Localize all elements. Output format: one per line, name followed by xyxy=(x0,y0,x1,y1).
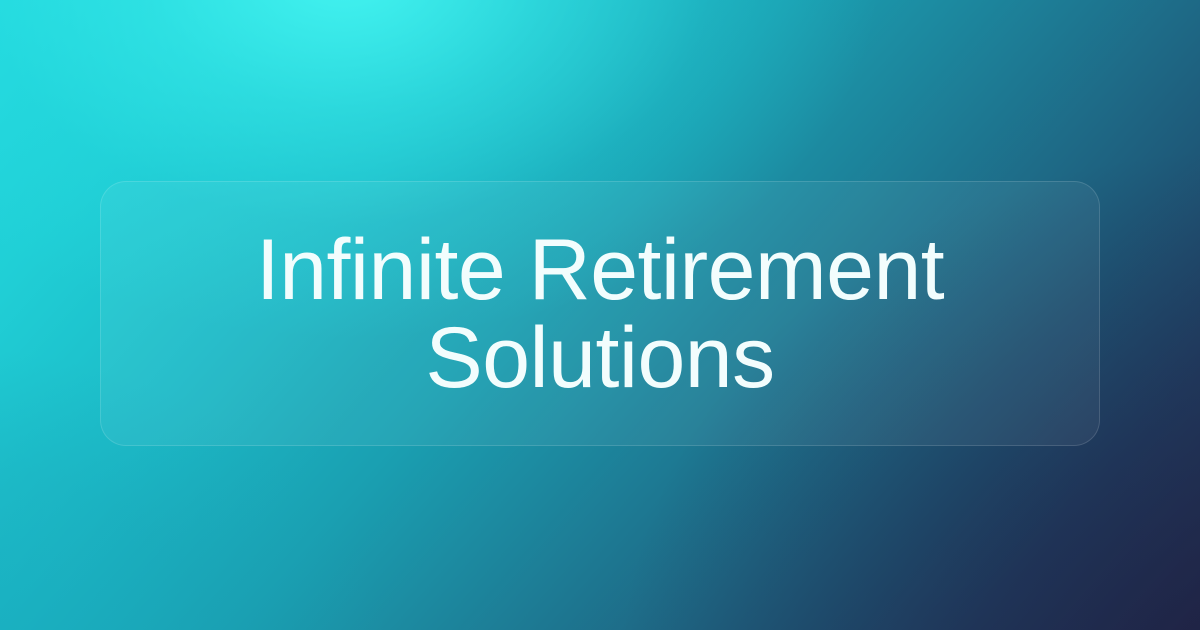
og-banner: Infinite Retirement Solutions xyxy=(0,0,1200,630)
page-title: Infinite Retirement Solutions xyxy=(130,226,1070,402)
title-card: Infinite Retirement Solutions xyxy=(100,181,1100,446)
